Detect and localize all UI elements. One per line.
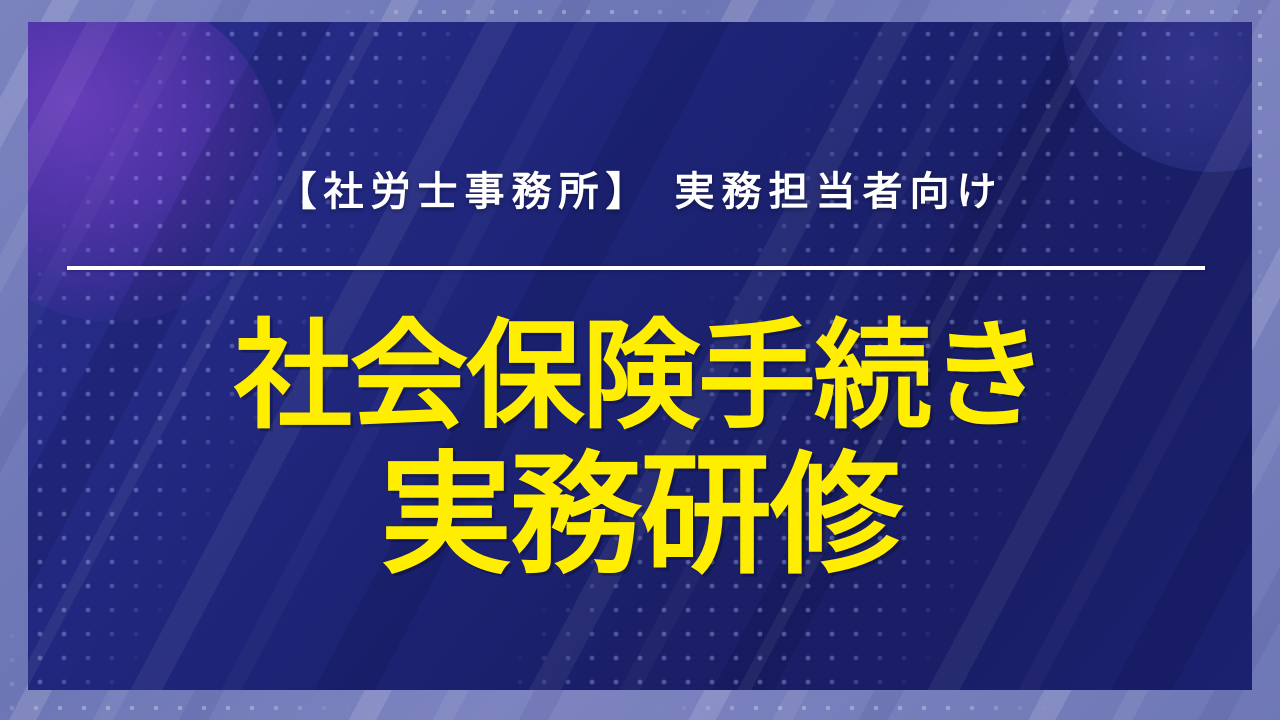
slide-eyebrow: 【社労士事務所】実務担当者向け [28, 159, 1252, 217]
eyebrow-bracket-open: 【 [277, 170, 324, 214]
eyebrow-audience-office: 社労士事務所 [324, 170, 606, 214]
headline-line-2: 実務研修 [28, 445, 1252, 588]
presentation-slide: 【社労士事務所】実務担当者向け 社会保険手続き 実務研修 [0, 0, 1280, 720]
slide-content: 【社労士事務所】実務担当者向け 社会保険手続き 実務研修 [28, 22, 1252, 690]
eyebrow-audience-role: 実務担当者向け [675, 170, 1004, 214]
slide-headline: 社会保険手続き 実務研修 [28, 314, 1252, 588]
eyebrow-bracket-close: 】 [606, 170, 653, 214]
horizontal-rule-divider [67, 266, 1205, 270]
slide-content-panel: 【社労士事務所】実務担当者向け 社会保険手続き 実務研修 [28, 22, 1252, 690]
headline-line-1: 社会保険手続き [28, 314, 1252, 441]
